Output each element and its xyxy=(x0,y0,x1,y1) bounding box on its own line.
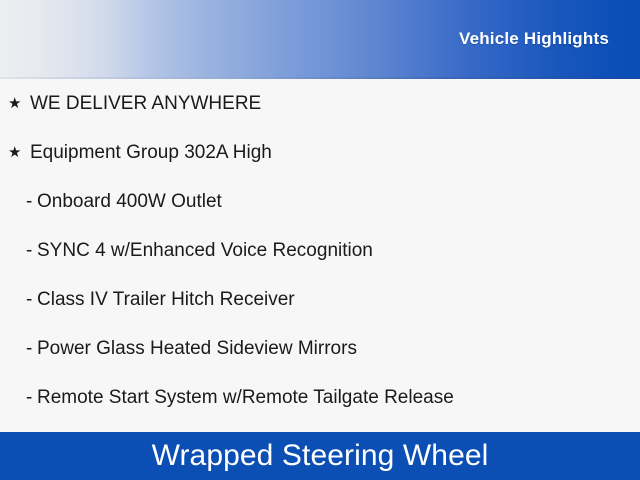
page-title: Vehicle Highlights xyxy=(459,29,609,49)
slide-header: Vehicle Highlights xyxy=(0,0,640,79)
list-item: -Remote Start System w/Remote Tailgate R… xyxy=(0,373,640,422)
list-item-label: Remote Start System w/Remote Tailgate Re… xyxy=(37,387,454,409)
list-item-label: Equipment Group 302A High xyxy=(30,142,272,164)
vehicle-highlights-slide: Vehicle Highlights ★WE DELIVER ANYWHERE★… xyxy=(0,0,640,480)
dash-bullet-icon: - xyxy=(26,192,37,211)
list-item: ★WE DELIVER ANYWHERE xyxy=(0,79,640,128)
list-item-label: Class IV Trailer Hitch Receiver xyxy=(37,289,295,311)
footer-caption: Wrapped Steering Wheel xyxy=(152,439,489,473)
star-bullet-icon: ★ xyxy=(8,145,30,160)
list-item-label: WE DELIVER ANYWHERE xyxy=(30,93,261,115)
vehicle-feature-list: ★WE DELIVER ANYWHERE★Equipment Group 302… xyxy=(0,79,640,422)
list-item: -Power Glass Heated Sideview Mirrors xyxy=(0,324,640,373)
dash-bullet-icon: - xyxy=(26,290,37,309)
dash-bullet-icon: - xyxy=(26,241,37,260)
list-item-label: Power Glass Heated Sideview Mirrors xyxy=(37,338,357,360)
list-item: ★Equipment Group 302A High xyxy=(0,128,640,177)
dash-bullet-icon: - xyxy=(26,339,37,358)
star-bullet-icon: ★ xyxy=(8,96,30,111)
list-item-label: SYNC 4 w/Enhanced Voice Recognition xyxy=(37,240,373,262)
slide-body: ★WE DELIVER ANYWHERE★Equipment Group 302… xyxy=(0,79,640,432)
slide-footer: Wrapped Steering Wheel xyxy=(0,432,640,480)
list-item: -SYNC 4 w/Enhanced Voice Recognition xyxy=(0,226,640,275)
dash-bullet-icon: - xyxy=(26,388,37,407)
list-item: -Class IV Trailer Hitch Receiver xyxy=(0,275,640,324)
list-item: -Onboard 400W Outlet xyxy=(0,177,640,226)
list-item-label: Onboard 400W Outlet xyxy=(37,191,222,213)
